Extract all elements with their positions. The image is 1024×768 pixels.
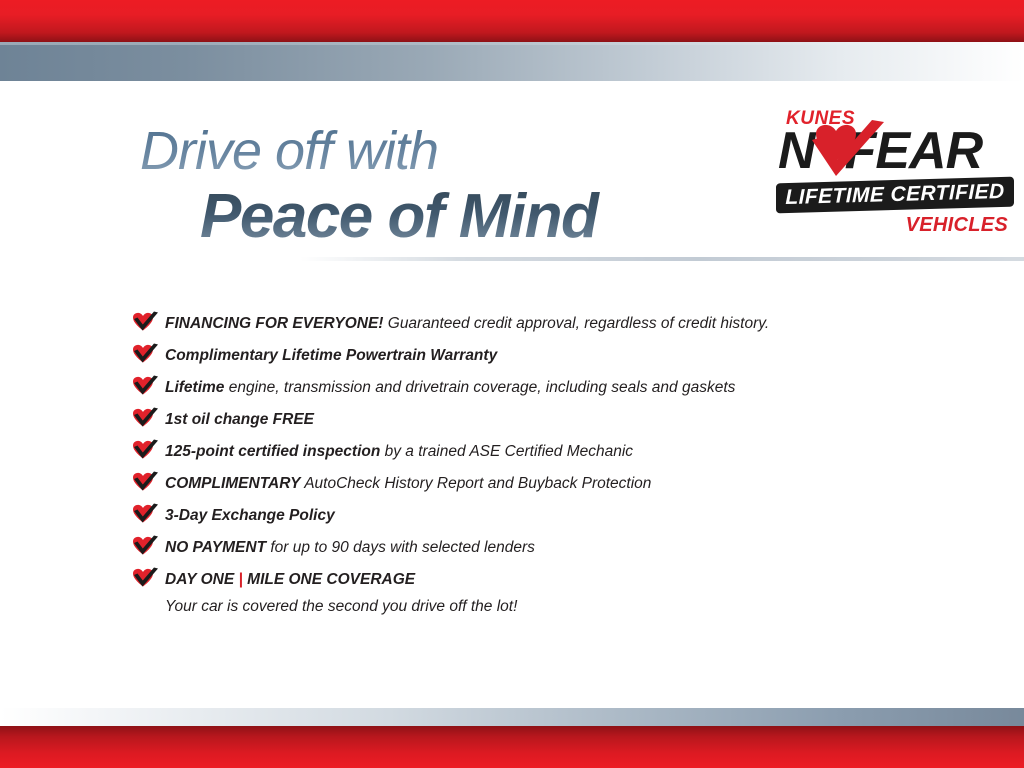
top-gray-band xyxy=(0,42,1024,81)
heart-check-icon xyxy=(806,120,888,186)
list-item-text: COMPLIMENTARY AutoCheck History Report a… xyxy=(165,468,931,500)
heart-check-bullet-icon xyxy=(131,343,158,364)
list-item-separator: | xyxy=(239,571,243,588)
heart-check-bullet-icon xyxy=(131,375,158,396)
list-item-lead: 1st oil change FREE xyxy=(165,411,314,428)
top-red-band xyxy=(0,0,1024,42)
list-item: COMPLIMENTARY AutoCheck History Report a… xyxy=(131,468,931,500)
promo-page: Drive off with Peace of Mind KUNES NFEAR… xyxy=(0,0,1024,768)
list-item-rest: Guaranteed credit approval, regardless o… xyxy=(383,315,769,332)
list-item: NO PAYMENT for up to 90 days with select… xyxy=(131,532,931,564)
list-item-lead: COMPLIMENTARY xyxy=(165,475,300,492)
list-item: Lifetime engine, transmission and drivet… xyxy=(131,372,931,404)
headline-line-2: Peace of Mind xyxy=(200,184,760,251)
list-item-text: 125-point certified inspection by a trai… xyxy=(165,436,931,468)
list-item-lead: 125-point certified inspection xyxy=(165,443,380,460)
bottom-gray-band xyxy=(0,708,1024,726)
list-item: 3-Day Exchange Policy xyxy=(131,500,931,532)
list-item-text: 3-Day Exchange Policy xyxy=(165,500,931,532)
list-item-lead: Lifetime xyxy=(165,379,224,396)
list-item-text: Complimentary Lifetime Powertrain Warran… xyxy=(165,340,931,372)
heart-check-bullet-icon xyxy=(131,535,158,556)
list-item-lead: NO PAYMENT xyxy=(165,539,266,556)
heart-check-bullet-icon xyxy=(131,471,158,492)
list-item: FINANCING FOR EVERYONE! Guaranteed credi… xyxy=(131,308,931,340)
list-item-text: FINANCING FOR EVERYONE! Guaranteed credi… xyxy=(165,308,931,340)
list-item: DAY ONE | MILE ONE COVERAGE Your car is … xyxy=(131,564,931,618)
heart-check-bullet-icon xyxy=(131,407,158,428)
list-item-text: NO PAYMENT for up to 90 days with select… xyxy=(165,532,931,564)
heart-check-bullet-icon xyxy=(131,439,158,460)
list-item-text: 1st oil change FREE xyxy=(165,404,931,436)
list-item: 125-point certified inspection by a trai… xyxy=(131,436,931,468)
bottom-red-band xyxy=(0,726,1024,768)
heart-check-bullet-icon xyxy=(131,311,158,332)
kunes-no-fear-logo: KUNES NFEAR LIFETIME CERTIFIED VEHICLES xyxy=(778,108,1014,250)
headline-line-1: Drive off with xyxy=(140,124,760,178)
list-item: Complimentary Lifetime Powertrain Warran… xyxy=(131,340,931,372)
logo-vehicles-text: VEHICLES xyxy=(906,214,1008,237)
list-item-lead: FINANCING FOR EVERYONE! xyxy=(165,315,383,332)
list-item-lead-part2: MILE ONE COVERAGE xyxy=(247,571,415,588)
logo-banner-shape: LIFETIME CERTIFIED xyxy=(776,177,1014,214)
header-divider xyxy=(300,257,1024,261)
list-item-subline: Your car is covered the second you drive… xyxy=(165,596,931,618)
list-item-rest: by a trained ASE Certified Mechanic xyxy=(380,443,633,460)
list-item-text: Lifetime engine, transmission and drivet… xyxy=(165,372,931,404)
headline-block: Drive off with Peace of Mind xyxy=(140,124,760,251)
list-item-rest: for up to 90 days with selected lenders xyxy=(266,539,535,556)
list-item-lead: Complimentary Lifetime Powertrain Warran… xyxy=(165,347,497,364)
list-item-rest: engine, transmission and drivetrain cove… xyxy=(224,379,735,396)
logo-banner-text: LIFETIME CERTIFIED xyxy=(776,177,1014,214)
heart-check-bullet-icon xyxy=(131,567,158,588)
list-item-text: DAY ONE | MILE ONE COVERAGE xyxy=(165,564,931,596)
list-item-rest: AutoCheck History Report and Buyback Pro… xyxy=(300,475,651,492)
list-item-lead: 3-Day Exchange Policy xyxy=(165,507,335,524)
heart-check-bullet-icon xyxy=(131,503,158,524)
benefits-list: FINANCING FOR EVERYONE! Guaranteed credi… xyxy=(131,308,931,618)
list-item-lead-part1: DAY ONE xyxy=(165,571,234,588)
list-item: 1st oil change FREE xyxy=(131,404,931,436)
